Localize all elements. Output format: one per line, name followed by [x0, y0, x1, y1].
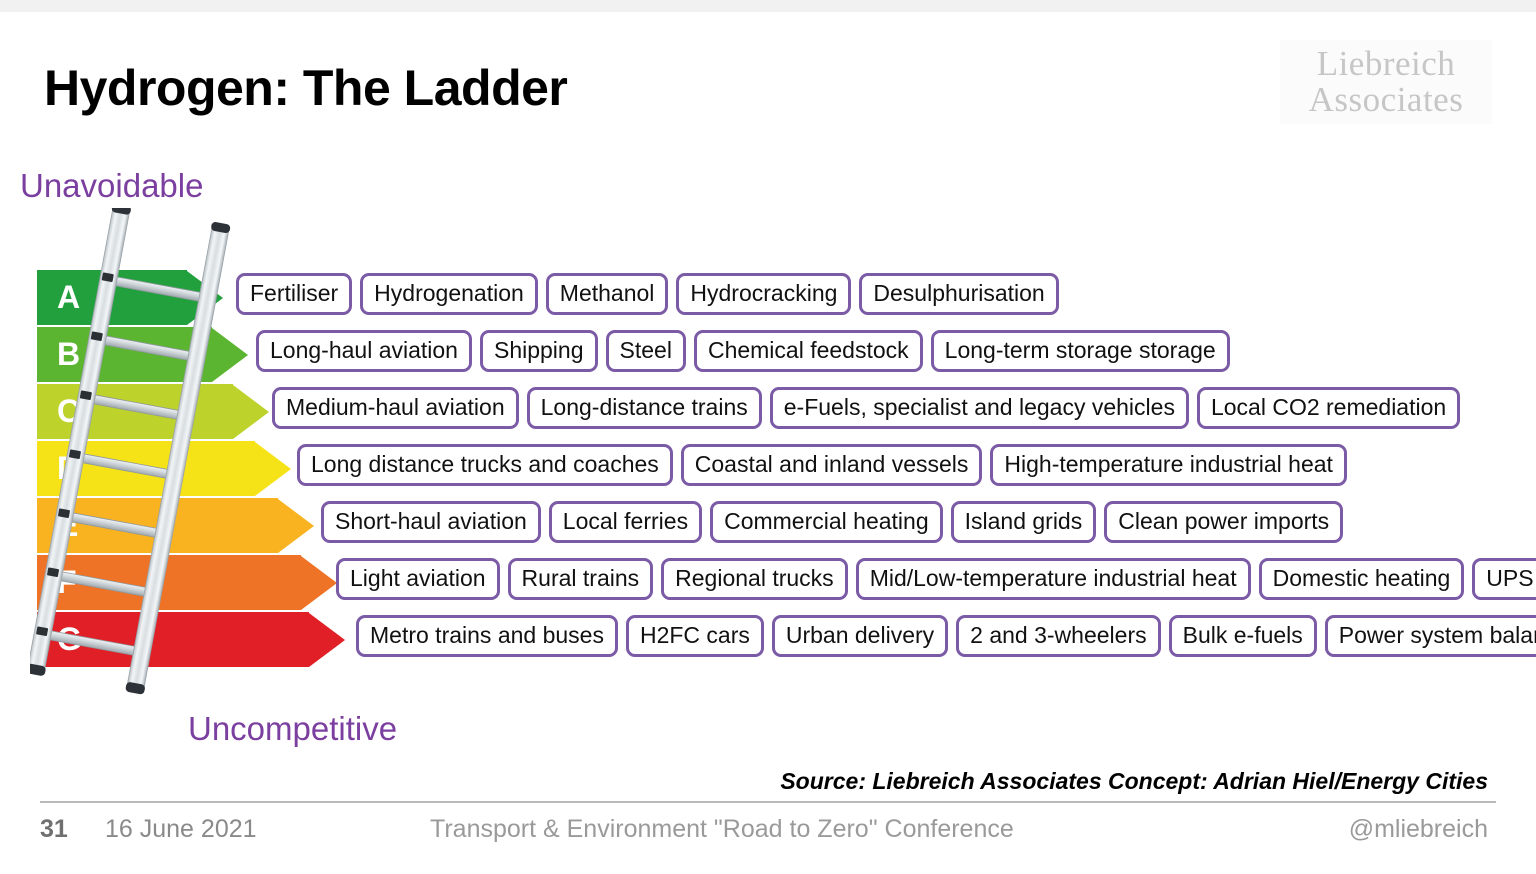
use-case-tag-list: Medium-haul aviationLong-distance trains… — [272, 387, 1460, 429]
grade-arrow-tip — [187, 271, 223, 325]
grade-arrow-tip — [278, 499, 314, 553]
use-case-tag[interactable]: High-temperature industrial heat — [990, 444, 1347, 486]
grade-letter: B — [37, 336, 80, 373]
use-case-tag[interactable]: Island grids — [951, 501, 1097, 543]
ladder-row-e: EShort-haul aviationLocal ferriesCommerc… — [0, 498, 1536, 553]
window-top-strip — [0, 0, 1536, 12]
use-case-tag[interactable]: e-Fuels, specialist and legacy vehicles — [770, 387, 1189, 429]
ladder-row-d: DLong distance trucks and coachesCoastal… — [0, 441, 1536, 496]
use-case-tag[interactable]: Long distance trucks and coaches — [297, 444, 673, 486]
use-case-tag[interactable]: H2FC cars — [626, 615, 764, 657]
use-case-tag-list: Long distance trucks and coachesCoastal … — [297, 444, 1347, 486]
logo-line-2: Associates — [1309, 82, 1464, 118]
use-case-tag[interactable]: Short-haul aviation — [321, 501, 541, 543]
use-case-tag[interactable]: Local CO2 remediation — [1197, 387, 1460, 429]
use-case-tag[interactable]: UPS — [1472, 558, 1536, 600]
ladder-row-c: CMedium-haul aviationLong-distance train… — [0, 384, 1536, 439]
grade-arrow-tip — [301, 556, 337, 610]
use-case-tag[interactable]: Steel — [606, 330, 686, 372]
grade-letter: F — [37, 564, 77, 601]
grade-letter: G — [37, 621, 82, 658]
use-case-tag[interactable]: Long-haul aviation — [256, 330, 472, 372]
grade-arrow-e: E — [37, 498, 314, 553]
use-case-tag[interactable]: Shipping — [480, 330, 598, 372]
ladder-rows: AFertiliserHydrogenationMethanolHydrocra… — [0, 270, 1536, 669]
logo-line-1: Liebreich — [1317, 46, 1456, 82]
grade-letter: A — [37, 279, 80, 316]
use-case-tag[interactable]: Clean power imports — [1104, 501, 1343, 543]
liebreich-associates-logo: Liebreich Associates — [1280, 40, 1492, 124]
use-case-tag-list: Long-haul aviationShippingSteelChemical … — [256, 330, 1230, 372]
grade-letter: E — [37, 507, 78, 544]
footer-conference: Transport & Environment "Road to Zero" C… — [430, 815, 1014, 844]
use-case-tag[interactable]: Urban delivery — [772, 615, 948, 657]
grade-letter: D — [37, 450, 80, 487]
grade-arrow-b: B — [37, 327, 248, 382]
grade-band: E — [37, 498, 278, 553]
page-title: Hydrogen: The Ladder — [44, 59, 567, 117]
use-case-tag[interactable]: Methanol — [546, 273, 669, 315]
ladder-row-b: BLong-haul aviationShippingSteelChemical… — [0, 327, 1536, 382]
use-case-tag[interactable]: Medium-haul aviation — [272, 387, 519, 429]
use-case-tag[interactable]: Hydrogenation — [360, 273, 538, 315]
use-case-tag[interactable]: Domestic heating — [1259, 558, 1465, 600]
use-case-tag[interactable]: Metro trains and buses — [356, 615, 618, 657]
grade-band: B — [37, 327, 212, 382]
use-case-tag-list: Short-haul aviationLocal ferriesCommerci… — [321, 501, 1343, 543]
use-case-tag[interactable]: Local ferries — [549, 501, 702, 543]
slide-canvas: Hydrogen: The Ladder Liebreich Associate… — [0, 12, 1536, 874]
grade-band: A — [37, 270, 187, 325]
page-number: 31 — [40, 815, 68, 844]
grade-arrow-g: G — [37, 612, 345, 667]
axis-caption-bottom: Uncompetitive — [188, 710, 397, 748]
grade-arrow-c: C — [37, 384, 269, 439]
use-case-tag[interactable]: Desulphurisation — [859, 273, 1058, 315]
grade-arrow-tip — [255, 442, 291, 496]
ladder-row-g: GMetro trains and busesH2FC carsUrban de… — [0, 612, 1536, 667]
grade-arrow-a: A — [37, 270, 223, 325]
footer-divider — [40, 801, 1496, 803]
use-case-tag[interactable]: Long-distance trains — [527, 387, 762, 429]
use-case-tag[interactable]: Fertiliser — [236, 273, 352, 315]
use-case-tag[interactable]: Light aviation — [336, 558, 500, 600]
axis-caption-top: Unavoidable — [20, 167, 203, 205]
grade-arrow-tip — [212, 328, 248, 382]
use-case-tag[interactable]: 2 and 3-wheelers — [956, 615, 1160, 657]
grade-arrow-d: D — [37, 441, 291, 496]
use-case-tag[interactable]: Chemical feedstock — [694, 330, 923, 372]
use-case-tag-list: FertiliserHydrogenationMethanolHydrocrac… — [236, 273, 1059, 315]
use-case-tag[interactable]: Bulk e-fuels — [1169, 615, 1317, 657]
use-case-tag[interactable]: Mid/Low-temperature industrial heat — [856, 558, 1251, 600]
grade-arrow-tip — [233, 385, 269, 439]
ladder-row-f: FLight aviationRural trainsRegional truc… — [0, 555, 1536, 610]
use-case-tag[interactable]: Power system balancing — [1325, 615, 1536, 657]
use-case-tag[interactable]: Regional trucks — [661, 558, 848, 600]
source-credit: Source: Liebreich Associates Concept: Ad… — [780, 768, 1488, 795]
use-case-tag-list: Light aviationRural trainsRegional truck… — [336, 558, 1536, 600]
use-case-tag[interactable]: Commercial heating — [710, 501, 943, 543]
use-case-tag[interactable]: Hydrocracking — [676, 273, 851, 315]
use-case-tag[interactable]: Long-term storage storage — [931, 330, 1230, 372]
use-case-tag[interactable]: Coastal and inland vessels — [681, 444, 983, 486]
footer-social-handle: @mliebreich — [1349, 815, 1488, 844]
ladder-row-a: AFertiliserHydrogenationMethanolHydrocra… — [0, 270, 1536, 325]
grade-band: C — [37, 384, 233, 439]
grade-arrow-f: F — [37, 555, 337, 610]
grade-letter: C — [37, 393, 80, 430]
grade-arrow-tip — [309, 613, 345, 667]
grade-band: F — [37, 555, 301, 610]
footer-date: 16 June 2021 — [105, 815, 257, 844]
use-case-tag-list: Metro trains and busesH2FC carsUrban del… — [356, 615, 1536, 657]
use-case-tag[interactable]: Rural trains — [508, 558, 654, 600]
grade-band: D — [37, 441, 255, 496]
grade-band: G — [37, 612, 309, 667]
